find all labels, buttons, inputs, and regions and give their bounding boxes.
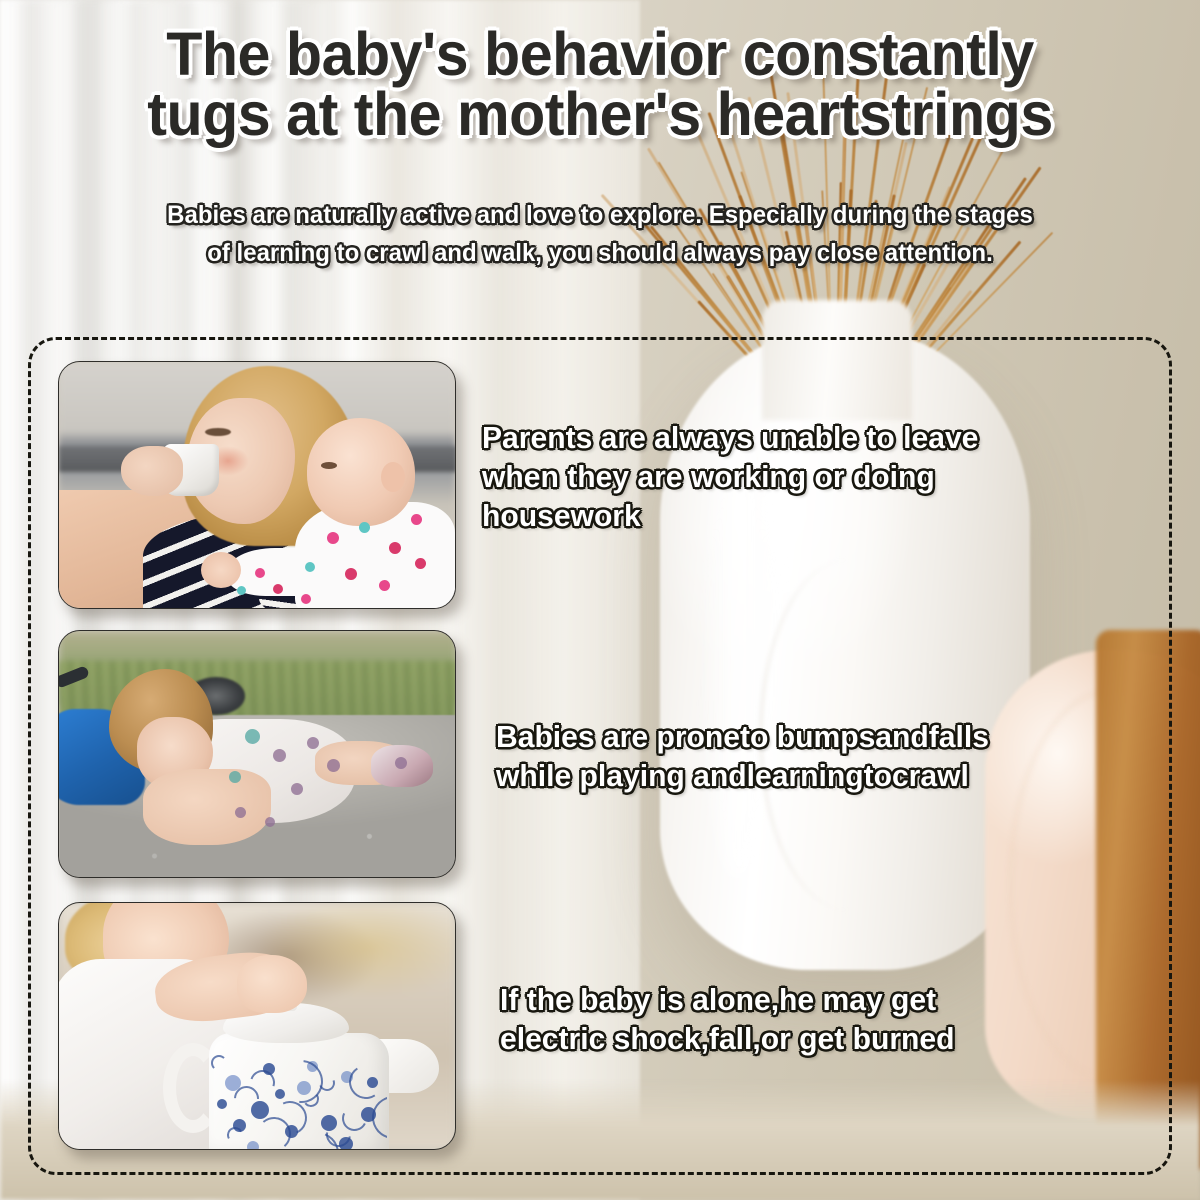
page-subtitle: Babies are naturally active and love to …	[91, 196, 1109, 272]
photo-card-mother-coffee[interactable]	[58, 361, 456, 609]
photo-mother-drinking-coffee-holding-baby	[59, 362, 455, 608]
bullet-text-parents-unable-to-leave: Parents are always unable to leave when …	[482, 418, 1109, 535]
photo-toddler-reaching-for-teapot	[59, 903, 455, 1149]
bullet-text-bumps-and-falls: Babies are proneto bumpsandfalls while p…	[496, 717, 1111, 795]
subtitle-block: Babies are naturally active and love to …	[70, 196, 1130, 272]
bullet-text-electric-shock-burns: If the baby is alone,he may get electric…	[500, 980, 1105, 1058]
photo-card-toddler-teapot[interactable]	[58, 902, 456, 1150]
page-title: The baby's behavior constantly tugs at t…	[18, 24, 1182, 144]
photo-toddler-fallen-on-pavement	[59, 631, 455, 877]
poster-canvas: The baby's behavior constantly tugs at t…	[0, 0, 1200, 1200]
headline-block: The baby's behavior constantly tugs at t…	[0, 24, 1200, 144]
photo-card-toddler-fall[interactable]	[58, 630, 456, 878]
